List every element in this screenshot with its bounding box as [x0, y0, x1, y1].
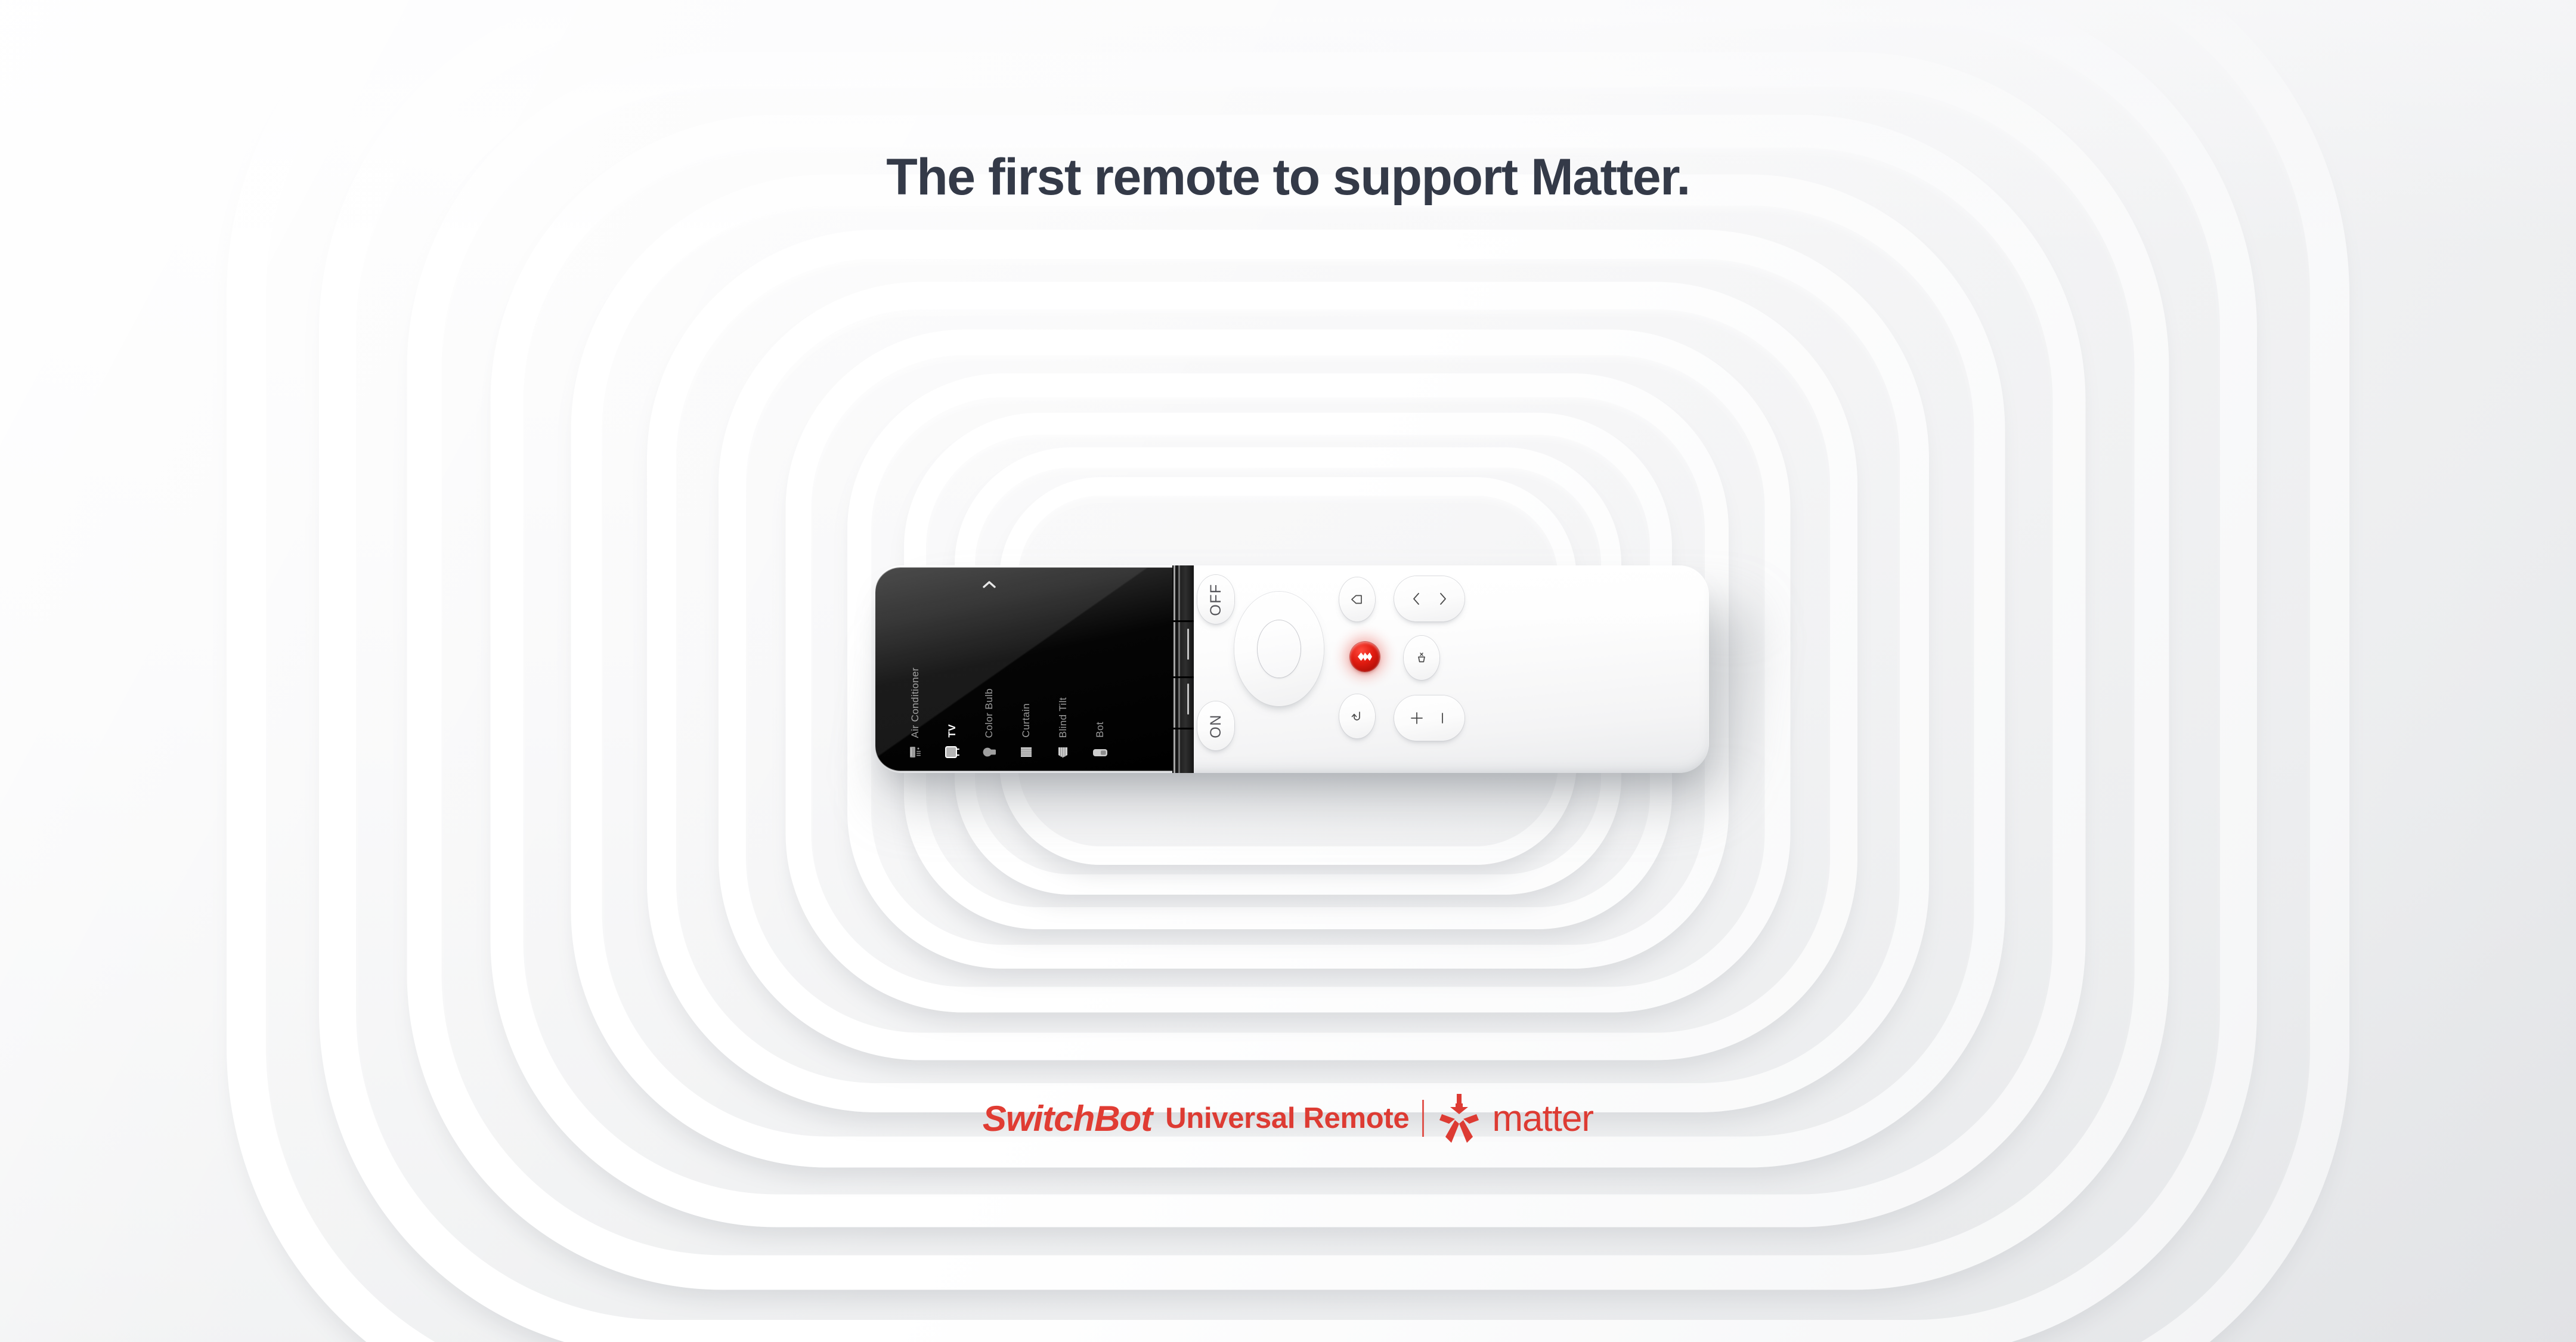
brand-divider	[1422, 1100, 1424, 1137]
volume-rocker-button[interactable]	[1394, 695, 1465, 741]
directional-pad[interactable]	[1234, 592, 1324, 706]
home-button[interactable]	[1339, 577, 1375, 621]
device-item-blind-tilt[interactable]: Blind Tilt	[1045, 601, 1082, 765]
device-label: Air Conditioner	[909, 667, 921, 738]
matter-logo: matter	[1437, 1093, 1593, 1144]
remote-body: Air Conditioner TV	[875, 565, 1709, 773]
remote-button-panel: OFF ON	[1194, 565, 1709, 773]
curtain-icon	[1017, 743, 1035, 761]
power-on-button[interactable]: ON	[1197, 701, 1234, 750]
device-item-bot[interactable]: Bot	[1082, 601, 1119, 765]
device-label: TV	[946, 724, 958, 738]
blind-tilt-icon	[1054, 743, 1072, 761]
page-title: The first remote to support Matter.	[0, 148, 2576, 207]
mute-button[interactable]	[1404, 636, 1439, 680]
chevron-left-icon[interactable]	[1410, 590, 1424, 608]
chevron-up-icon	[982, 580, 997, 589]
device-item-tv[interactable]: TV	[934, 601, 971, 765]
universal-remote-device: Air Conditioner TV	[875, 565, 1709, 773]
switchbot-scene-button[interactable]	[1350, 642, 1380, 672]
matter-wordmark: matter	[1492, 1097, 1593, 1140]
device-label: Color Bulb	[983, 688, 995, 738]
mute-speaker-icon	[1413, 649, 1431, 667]
bot-toggle-icon	[1091, 743, 1109, 761]
minus-icon[interactable]	[1435, 710, 1450, 726]
matter-logo-icon	[1437, 1093, 1481, 1144]
switchbot-logo-icon	[1357, 650, 1373, 663]
remote-screen[interactable]: Air Conditioner TV	[875, 568, 1174, 771]
device-item-air-conditioner[interactable]: Air Conditioner	[897, 601, 934, 765]
device-label: Blind Tilt	[1057, 697, 1069, 738]
brand-footer: SwitchBot Universal Remote matter	[0, 1093, 2576, 1144]
edge-volume-down-icon[interactable]	[1187, 684, 1189, 715]
device-label: Bot	[1094, 722, 1106, 738]
power-on-label: ON	[1207, 714, 1225, 738]
plus-icon[interactable]	[1409, 710, 1425, 726]
device-item-curtain[interactable]: Curtain	[1008, 601, 1045, 765]
device-label: Curtain	[1020, 703, 1032, 738]
air-conditioner-icon	[906, 743, 924, 761]
dpad-ok-button[interactable]	[1258, 620, 1301, 678]
switchbot-wordmark: SwitchBot	[983, 1098, 1152, 1139]
light-bulb-icon	[980, 743, 998, 761]
home-icon	[1348, 590, 1366, 608]
remote-side-edge	[1172, 565, 1194, 773]
back-button[interactable]	[1339, 694, 1375, 738]
device-item-color-bulb[interactable]: Color Bulb	[971, 601, 1008, 765]
device-list: Air Conditioner TV	[897, 601, 1168, 765]
channel-rocker-button[interactable]	[1394, 576, 1465, 621]
power-off-button[interactable]: OFF	[1197, 575, 1234, 624]
tv-icon	[943, 743, 961, 761]
product-name: Universal Remote	[1165, 1102, 1409, 1135]
back-arrow-icon	[1348, 707, 1366, 725]
chevron-right-icon[interactable]	[1435, 590, 1450, 608]
power-off-label: OFF	[1207, 583, 1225, 616]
edge-volume-up-icon[interactable]	[1187, 629, 1189, 660]
